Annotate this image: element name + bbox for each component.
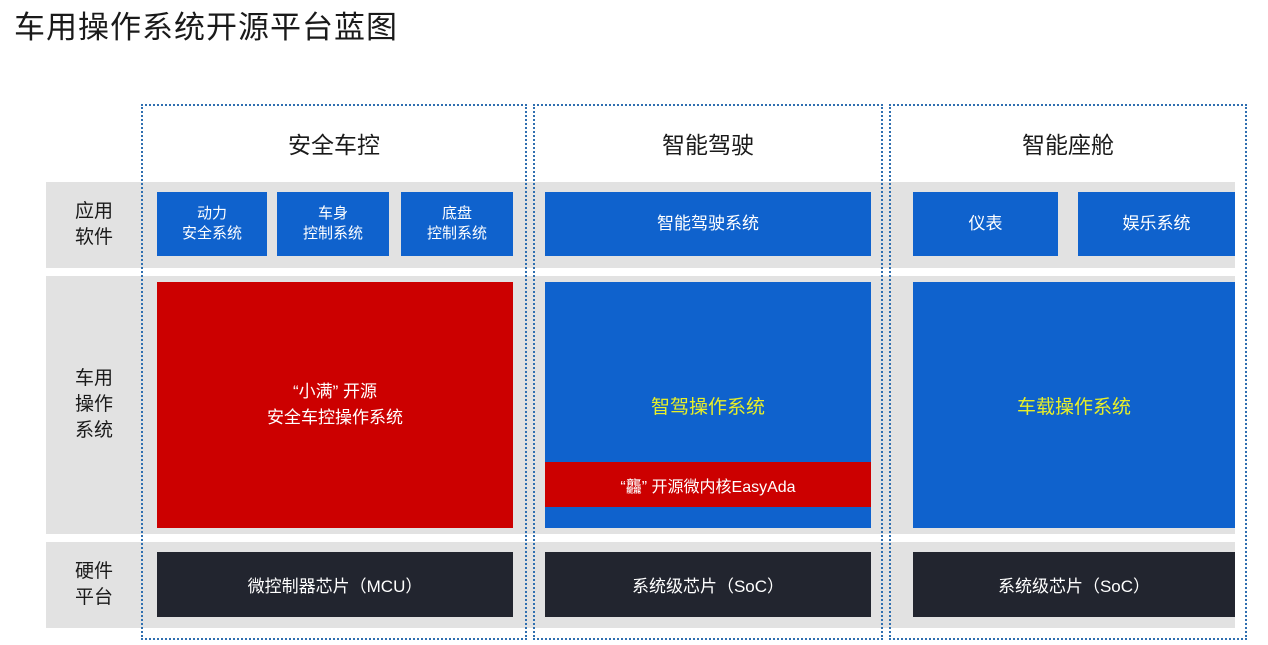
os-box-intelligent-driving-os-label: 智驾操作系统 bbox=[545, 389, 871, 421]
hardware-box-mcu: 微控制器芯片（MCU） bbox=[157, 552, 513, 617]
app-box-intelligent-driving-system: 智能驾驶系统 bbox=[545, 192, 871, 256]
row-label-operating-system: 车用 操作 系统 bbox=[46, 276, 142, 534]
os-box-easyada-microkernel: “龘” 开源微内核EasyAda bbox=[545, 462, 871, 507]
hardware-box-soc-cockpit: 系统级芯片（SoC） bbox=[913, 552, 1235, 617]
hardware-box-soc-driving: 系统级芯片（SoC） bbox=[545, 552, 871, 617]
row-label-hardware: 硬件 平台 bbox=[46, 542, 142, 628]
os-box-xiaoman-safety-vehicle-control: “小满” 开源 安全车控操作系统 bbox=[157, 282, 513, 528]
column-header-intelligent-cockpit: 智能座舱 bbox=[893, 108, 1243, 178]
app-box-body-control-system: 车身 控制系统 bbox=[277, 192, 389, 256]
architecture-diagram: 应用 软件 车用 操作 系统 硬件 平台 安全车控 智能驾驶 智能座舱 动力 安… bbox=[0, 104, 1268, 644]
row-label-application: 应用 软件 bbox=[46, 182, 142, 268]
app-box-power-safety-system: 动力 安全系统 bbox=[157, 192, 267, 256]
app-box-chassis-control-system: 底盘 控制系统 bbox=[401, 192, 513, 256]
column-header-safety-vehicle-control: 安全车控 bbox=[145, 108, 523, 178]
column-header-intelligent-driving: 智能驾驶 bbox=[537, 108, 879, 178]
app-box-instrument-cluster: 仪表 bbox=[913, 192, 1058, 256]
os-box-vehicle-os-label: 车载操作系统 bbox=[913, 389, 1235, 421]
app-box-infotainment-system: 娱乐系统 bbox=[1078, 192, 1235, 256]
page-title: 车用操作系统开源平台蓝图 bbox=[14, 8, 398, 48]
